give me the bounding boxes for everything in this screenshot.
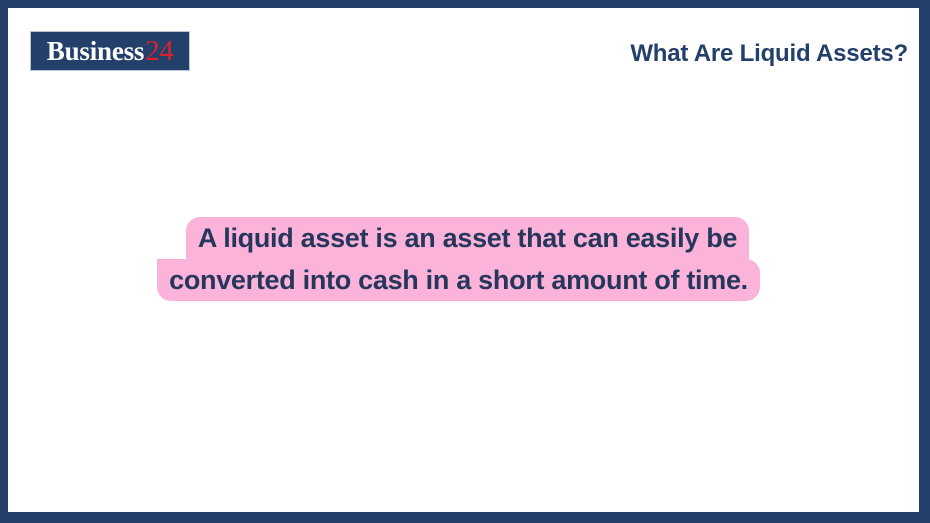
statement-line-2: converted into cash in a short amount of… [157, 259, 760, 301]
page-title: What Are Liquid Assets? [630, 40, 908, 68]
slide-header: Business24 What Are Liquid Assets? [8, 8, 919, 88]
business24-logo[interactable]: Business24 [30, 31, 190, 71]
logo-wordmark: Business [47, 38, 144, 65]
highlighted-statement: A liquid asset is an asset that can easi… [8, 217, 919, 301]
logo-number: 24 [145, 37, 173, 66]
statement-line-1: A liquid asset is an asset that can easi… [186, 217, 749, 259]
slide-canvas: Business24 What Are Liquid Assets? A liq… [0, 0, 930, 523]
